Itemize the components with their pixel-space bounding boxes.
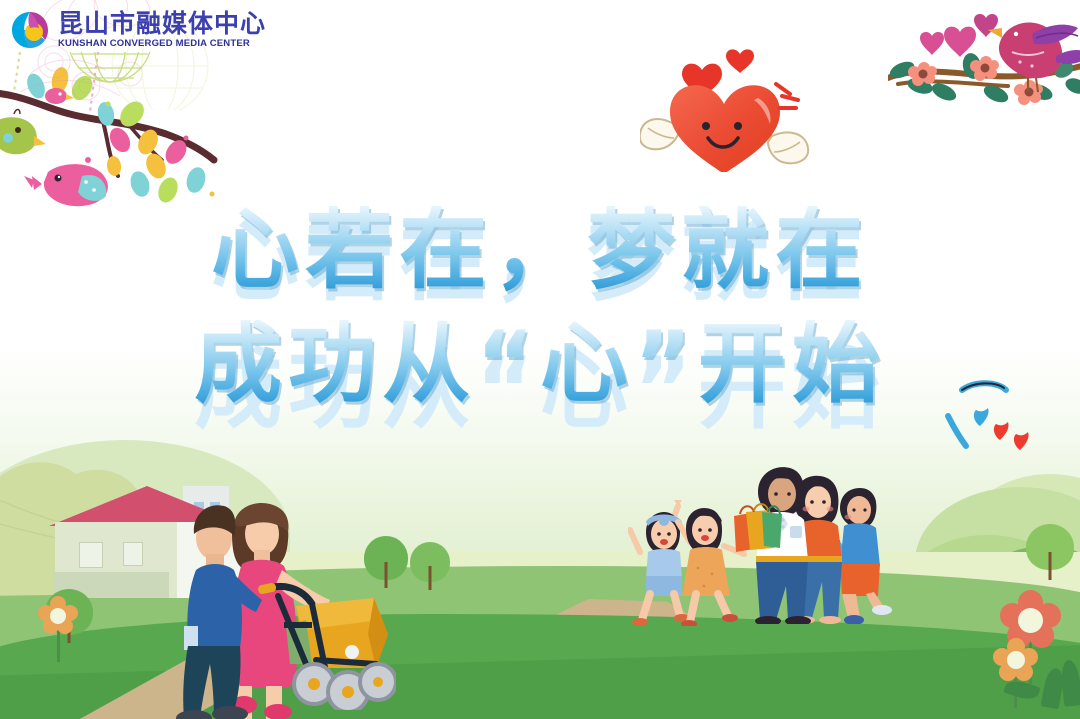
brand-logo-text: 昆山市融媒体中心 KUNSHAN CONVERGED MEDIA CENTER — [58, 11, 266, 49]
red-heart-icon — [994, 422, 1009, 440]
tree-mid-small-2 — [410, 542, 450, 590]
shopping-bags-icon — [730, 498, 790, 568]
baby-stroller — [256, 560, 396, 710]
girl-blue-figure — [630, 500, 690, 626]
hand-drawn-heart-scribbles — [940, 350, 1050, 450]
red-heart-icon — [1014, 432, 1029, 450]
swirl-circle-logo-icon — [8, 8, 52, 52]
brand-logo[interactable]: 昆山市融媒体中心 KUNSHAN CONVERGED MEDIA CENTER — [8, 8, 266, 52]
small-heart-icon — [726, 49, 754, 73]
blue-heart-icon — [974, 408, 989, 426]
pink-heart-icon — [920, 32, 944, 55]
flower-left — [38, 596, 78, 662]
top-right-bird-branch-decoration — [888, 0, 1080, 110]
tree-trunk — [429, 566, 432, 590]
flower-core — [50, 608, 66, 624]
flower-core — [1018, 608, 1043, 633]
flower-core — [1007, 651, 1025, 669]
pink-bird-icon — [24, 164, 108, 206]
poster-canvas: 心若在，梦就在 心若在，梦就在 成功从“心”开始 成功从“心”开始 — [0, 0, 1080, 719]
house-window-1 — [79, 542, 103, 568]
tree-right — [1026, 524, 1074, 580]
brand-name-en: KUNSHAN CONVERGED MEDIA CENTER — [58, 39, 266, 49]
winged-heart-illustration — [640, 42, 810, 172]
brand-name-cn: 昆山市融媒体中心 — [58, 11, 266, 36]
house-window-2 — [123, 542, 143, 566]
tree-trunk — [1049, 552, 1052, 580]
pink-heart-icon — [944, 27, 976, 57]
green-bird-icon — [0, 110, 46, 155]
